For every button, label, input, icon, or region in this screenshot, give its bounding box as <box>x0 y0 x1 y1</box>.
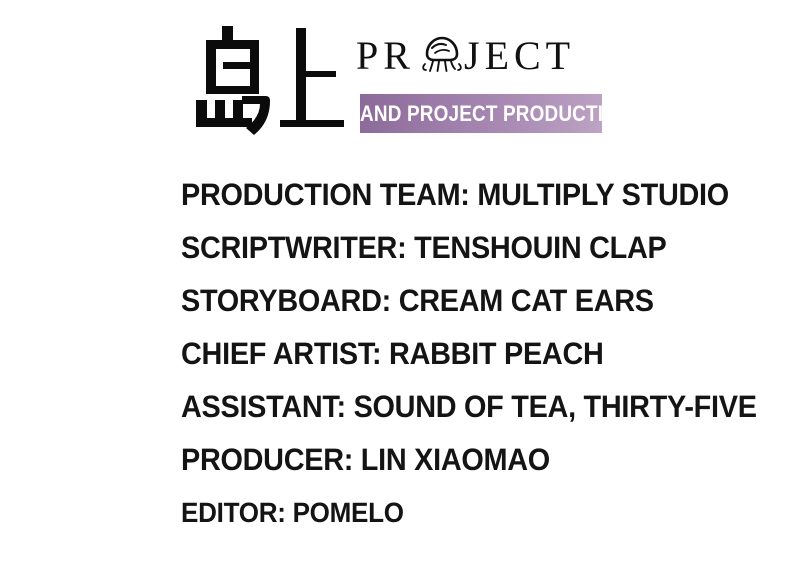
credit-line-chief-artist: CHIEF ARTIST: RABBIT PEACH <box>181 327 739 380</box>
cjk-logo-svg <box>196 22 346 137</box>
credit-line-scriptwriter: SCRIPTWRITER: TENSHOUIN CLAP <box>181 221 739 274</box>
wordmark-pr-letters: PR <box>356 33 415 78</box>
project-wordmark: PR JECT <box>356 28 602 84</box>
credit-line-storyboard: STORYBOARD: CREAM CAT EARS <box>181 274 739 327</box>
credit-line-editor: EDITOR: POMELO <box>181 486 739 539</box>
credits-list: PRODUCTION TEAM: MULTIPLY STUDIO SCRIPTW… <box>181 168 781 539</box>
credit-line-assistant: ASSISTANT: SOUND OF TEA, THIRTY-FIVE <box>181 380 739 433</box>
studio-logo: PR JECT <box>196 22 606 137</box>
wordmark-ject-letters: JECT <box>464 33 575 78</box>
credit-line-producer: PRODUCER: LIN XIAOMAO <box>181 433 739 486</box>
project-wordmark-svg: PR JECT <box>356 28 602 84</box>
credit-line-production-team: PRODUCTION TEAM: MULTIPLY STUDIO <box>181 168 739 221</box>
island-project-production-banner: ISLAND PROJECT PRODUCTION <box>360 94 602 133</box>
credits-page: PR JECT <box>0 0 800 587</box>
logo-wordmark-group: PR JECT <box>356 28 602 136</box>
banner-label: ISLAND PROJECT PRODUCTION <box>360 103 602 125</box>
island-above-chinese-characters <box>196 22 346 137</box>
jellyfish-icon <box>423 38 461 71</box>
